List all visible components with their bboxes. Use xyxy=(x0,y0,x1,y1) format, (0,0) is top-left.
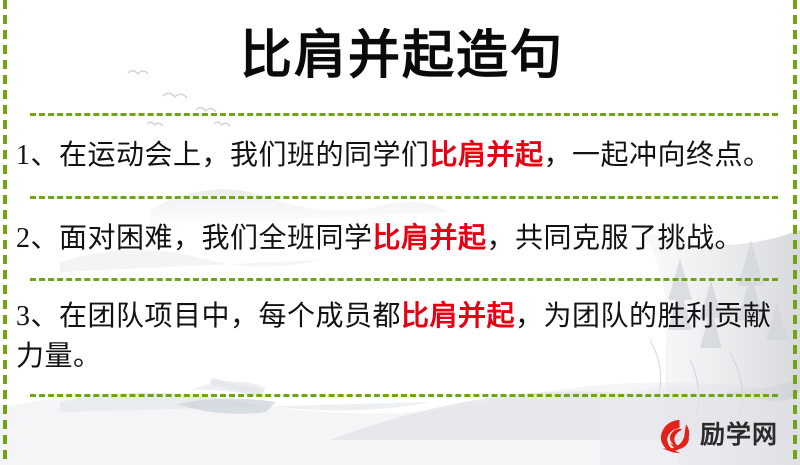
sentence-row: 1、在运动会上，我们班的同学们比肩并起，一起冲向终点。 xyxy=(14,116,784,196)
sentence-sheet-page: 比肩并起造句 1、在运动会上，我们班的同学们比肩并起，一起冲向终点。 2、面对困… xyxy=(0,0,800,465)
right-dashed-border xyxy=(793,0,797,465)
keyword-highlight-3: 比肩并起 xyxy=(401,301,515,332)
flame-swirl-icon xyxy=(657,417,693,453)
sentence-after-2: ，共同克服了挑战。 xyxy=(487,223,744,254)
sentence-text-3: 3、在团队项目中，每个成员都比肩并起，为团队的胜利贡献力量。 xyxy=(16,297,780,377)
sentence-index-1: 1、 xyxy=(16,140,59,171)
keyword-highlight-1: 比肩并起 xyxy=(430,140,544,171)
sentence-row: 3、在团队项目中，每个成员都比肩并起，为团队的胜利贡献力量。 xyxy=(14,281,784,394)
left-dashed-border xyxy=(3,0,7,465)
sentence-index-3: 3、 xyxy=(16,301,59,332)
sentence-index-2: 2、 xyxy=(16,223,59,254)
page-title: 比肩并起造句 xyxy=(234,31,564,83)
sentence-before-2: 面对困难，我们全班同学 xyxy=(59,223,373,254)
sentence-text-2: 2、面对困难，我们全班同学比肩并起，共同克服了挑战。 xyxy=(16,219,743,259)
logo-text: 励学网 xyxy=(700,423,778,448)
sentence-text-1: 1、在运动会上，我们班的同学们比肩并起，一起冲向终点。 xyxy=(16,136,772,176)
site-watermark-logo: 励学网 xyxy=(657,417,778,453)
sentence-after-1: ，一起冲向终点。 xyxy=(544,140,772,171)
sentence-before-3: 在团队项目中，每个成员都 xyxy=(59,301,401,332)
sentence-before-1: 在运动会上，我们班的同学们 xyxy=(59,140,430,171)
keyword-highlight-2: 比肩并起 xyxy=(373,223,487,254)
sheet-content: 比肩并起造句 1、在运动会上，我们班的同学们比肩并起，一起冲向终点。 2、面对困… xyxy=(0,0,800,465)
title-area: 比肩并起造句 xyxy=(14,0,784,113)
sentence-row: 2、面对困难，我们全班同学比肩并起，共同克服了挑战。 xyxy=(14,199,784,278)
